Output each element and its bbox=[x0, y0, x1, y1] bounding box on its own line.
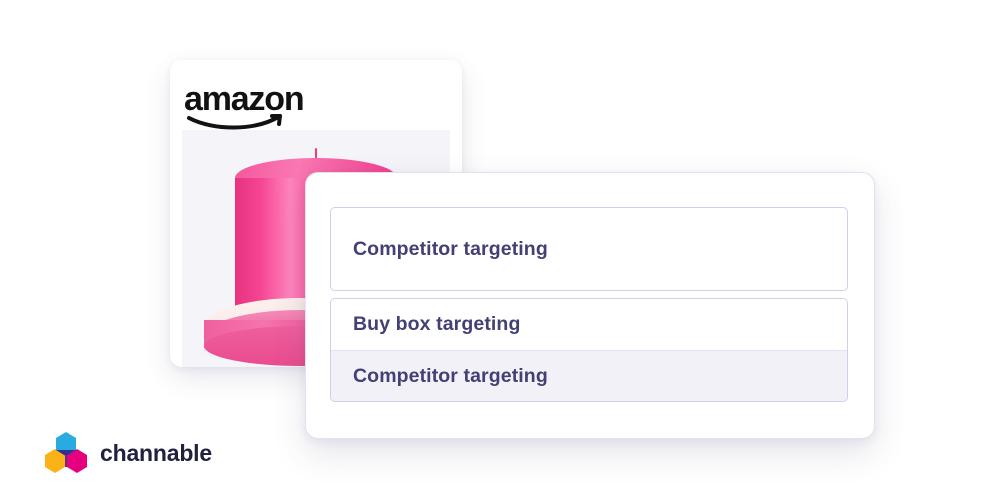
targeting-type-select-value: Competitor targeting bbox=[331, 238, 548, 261]
channable-wordmark: channable bbox=[100, 440, 212, 467]
targeting-type-select[interactable]: Competitor targeting bbox=[330, 207, 848, 291]
amazon-logo-icon: amazon bbox=[184, 78, 304, 130]
option-label: Competitor targeting bbox=[331, 365, 548, 388]
list-item[interactable]: Buy box targeting bbox=[331, 299, 847, 350]
svg-text:amazon: amazon bbox=[184, 80, 303, 118]
channable-hexagon-logo-icon bbox=[44, 430, 88, 476]
targeting-dropdown-card: Competitor targeting Buy box targeting C… bbox=[305, 172, 875, 439]
illustration-canvas: amazon Competitor targeting Buy box targ… bbox=[0, 0, 1000, 500]
targeting-options-list: Buy box targeting Competitor targeting bbox=[330, 298, 848, 402]
option-label: Buy box targeting bbox=[331, 313, 520, 336]
list-item[interactable]: Competitor targeting bbox=[331, 350, 847, 401]
channable-brand-lockup: channable bbox=[44, 430, 212, 476]
